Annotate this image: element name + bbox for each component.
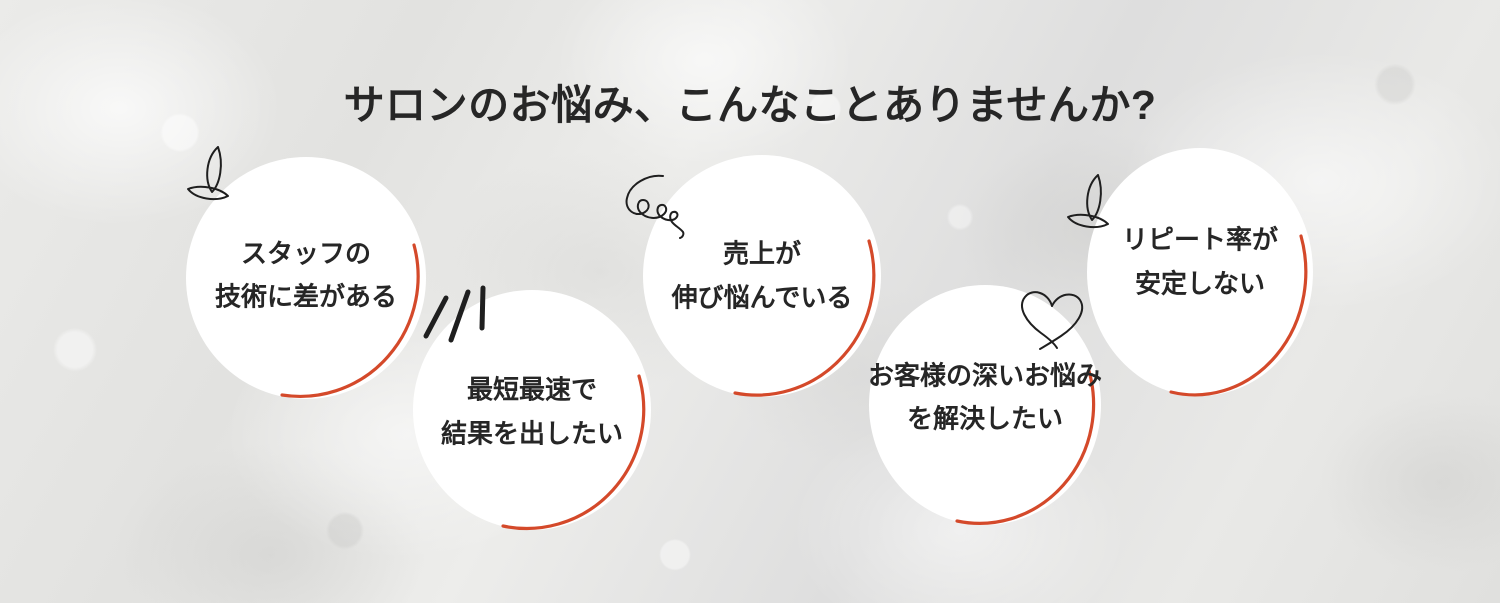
bubble-label: リピート率が 安定しない — [1122, 218, 1278, 305]
bubble-line-2: 伸び悩んでいる — [672, 276, 853, 320]
bubble-line-2: 安定しない — [1122, 262, 1278, 306]
bubble-label: 売上が 伸び悩んでいる — [672, 232, 853, 319]
page-title: サロンのお悩み、こんなことありませんか? — [0, 71, 1500, 131]
poster-canvas: サロンのお悩み、こんなことありませんか? スタッフの 技術に差がある 最短最速で… — [0, 0, 1500, 603]
bubble-label: お客様の深いお悩み を解決したい — [868, 354, 1102, 441]
bubble-repeat-rate-unstable: リピート率が 安定しない — [1087, 148, 1313, 396]
bubble-label: スタッフの 技術に差がある — [215, 232, 397, 319]
bubble-label: 最短最速で 結果を出したい — [441, 369, 623, 456]
bubble-line-2: 結果を出したい — [441, 412, 623, 456]
bubble-line-1: リピート率が — [1122, 224, 1278, 254]
bubble-line-1: スタッフの — [241, 238, 371, 268]
bubble-staff-skill-gap: スタッフの 技術に差がある — [186, 157, 426, 399]
bubble-line-1: 最短最速で — [467, 375, 597, 405]
bubble-solve-customer-worries: お客様の深いお悩み を解決したい — [869, 285, 1101, 525]
bubble-line-1: お客様の深いお悩み — [868, 360, 1102, 390]
bubble-line-2: を解決したい — [868, 398, 1102, 442]
bubble-fastest-results: 最短最速で 結果を出したい — [413, 290, 651, 530]
bubble-sales-stagnant: 売上が 伸び悩んでいる — [643, 155, 881, 397]
bubble-line-2: 技術に差がある — [215, 276, 397, 320]
bubble-line-1: 売上が — [723, 238, 801, 268]
